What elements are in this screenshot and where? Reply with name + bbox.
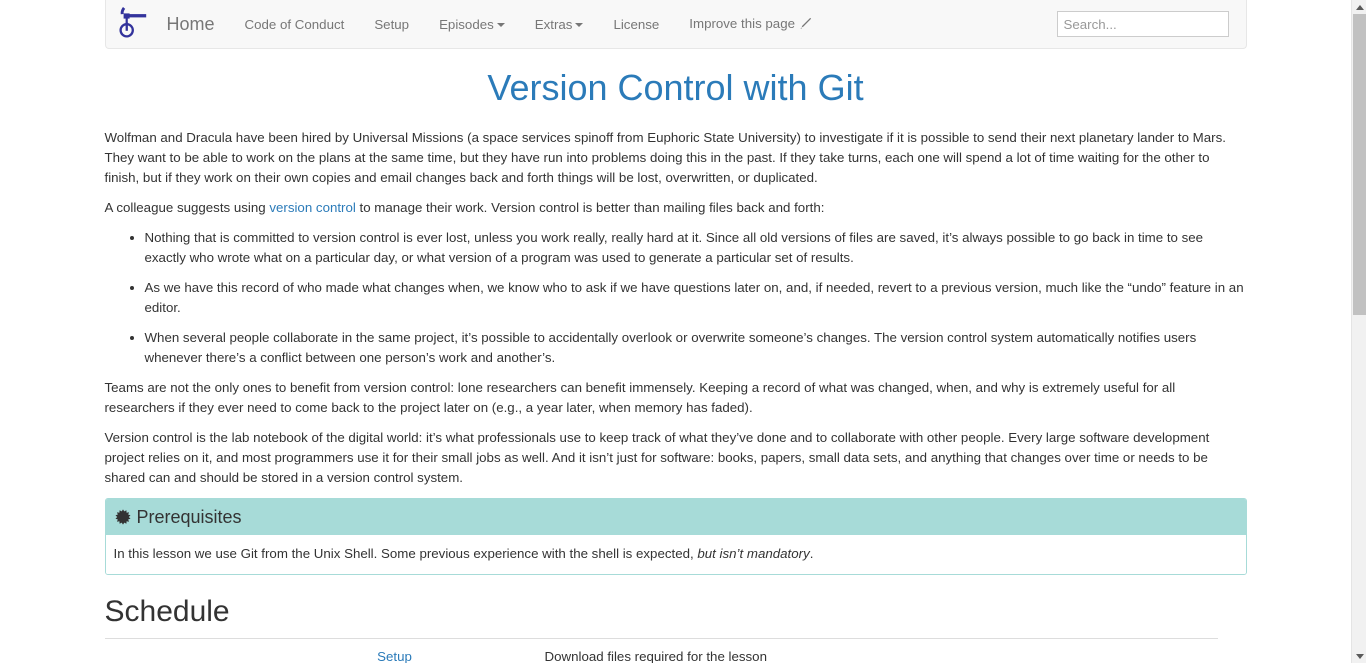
intro-paragraph-2: A colleague suggests using version contr…	[105, 198, 1247, 218]
prerequisites-text: In this lesson we use Git from the Unix …	[114, 544, 1238, 564]
version-control-link[interactable]: version control	[269, 200, 355, 215]
schedule-link-setup[interactable]: Setup	[377, 649, 412, 663]
nav-item-license[interactable]: License	[598, 0, 674, 49]
page-viewport: Home Code of Conduct Setup Episodes Extr…	[0, 0, 1351, 663]
search-input[interactable]	[1057, 11, 1229, 37]
nav-item-episodes[interactable]: Episodes	[424, 0, 520, 49]
list-item: When several people collaborate in the s…	[145, 328, 1247, 368]
nav-item-setup[interactable]: Setup	[359, 0, 424, 49]
nav-link-improve-this-page[interactable]: Improve this page	[674, 0, 827, 50]
intro-paragraph-2-suffix: to manage their work. Version control is…	[356, 200, 825, 215]
software-carpentry-hammer-logo-icon	[114, 4, 150, 44]
schedule-table-body: Setup Download files required for the le…	[105, 638, 1218, 663]
navbar-links: Home Code of Conduct Setup Episodes Extr…	[158, 0, 828, 49]
nav-link-code-of-conduct[interactable]: Code of Conduct	[230, 0, 360, 49]
scroll-up-arrow-icon[interactable]	[1352, 0, 1366, 14]
intro-paragraph-2-prefix: A colleague suggests using	[105, 200, 270, 215]
site-logo-link[interactable]	[106, 0, 158, 49]
nav-link-episodes[interactable]: Episodes	[424, 0, 520, 49]
prerequisites-text-suffix: .	[810, 546, 814, 561]
version-control-benefits-list: Nothing that is committed to version con…	[105, 228, 1247, 368]
nav-link-extras-label: Extras	[535, 17, 573, 32]
chevron-down-icon	[497, 23, 505, 27]
nav-link-episodes-label: Episodes	[439, 17, 494, 32]
nav-item-home[interactable]: Home	[158, 1, 230, 48]
prerequisites-callout-header: Prerequisites	[106, 499, 1246, 535]
navbar-right-section	[1057, 11, 1246, 37]
nav-link-setup[interactable]: Setup	[359, 0, 424, 49]
nav-link-improve-this-page-label: Improve this page	[689, 16, 795, 31]
sun-burst-icon	[115, 509, 131, 525]
chevron-down-icon	[575, 23, 583, 27]
prerequisites-text-prefix: In this lesson we use Git from the Unix …	[114, 546, 698, 561]
scroll-down-arrow-icon[interactable]	[1352, 649, 1366, 663]
list-item: Nothing that is committed to version con…	[145, 228, 1247, 268]
main-navbar: Home Code of Conduct Setup Episodes Extr…	[105, 0, 1247, 49]
nav-item-improve-this-page[interactable]: Improve this page	[674, 0, 827, 50]
list-item: As we have this record of who made what …	[145, 278, 1247, 318]
nav-link-extras[interactable]: Extras	[520, 0, 599, 49]
nav-item-code-of-conduct[interactable]: Code of Conduct	[230, 0, 360, 49]
page-container: Home Code of Conduct Setup Episodes Extr…	[105, 0, 1247, 663]
prerequisites-heading: Prerequisites	[137, 506, 242, 528]
schedule-row-description: Download files required for the lesson	[537, 638, 1218, 663]
intro-paragraph-1: Wolfman and Dracula have been hired by U…	[105, 128, 1247, 188]
schedule-heading: Schedule	[105, 595, 1247, 628]
pencil-icon	[799, 16, 812, 35]
page-title: Version Control with Git	[105, 68, 1247, 108]
prerequisites-callout: Prerequisites In this lesson we use Git …	[105, 498, 1247, 575]
schedule-table: Setup Download files required for the le…	[105, 638, 1218, 663]
schedule-row-title: Setup	[253, 638, 537, 663]
nav-link-home[interactable]: Home	[158, 1, 230, 48]
intro-paragraph-4: Version control is the lab notebook of t…	[105, 428, 1247, 488]
prerequisites-callout-body: In this lesson we use Git from the Unix …	[106, 535, 1246, 574]
nav-link-license[interactable]: License	[598, 0, 674, 49]
page-scrollbar[interactable]	[1351, 0, 1366, 663]
prerequisites-text-emphasis: but isn’t mandatory	[697, 546, 809, 561]
lesson-intro: Wolfman and Dracula have been hired by U…	[105, 128, 1247, 663]
schedule-row-time	[105, 638, 253, 663]
table-row: Setup Download files required for the le…	[105, 638, 1218, 663]
scrollbar-thumb[interactable]	[1353, 14, 1366, 315]
nav-item-extras[interactable]: Extras	[520, 0, 599, 49]
intro-paragraph-3: Teams are not the only ones to benefit f…	[105, 378, 1247, 418]
